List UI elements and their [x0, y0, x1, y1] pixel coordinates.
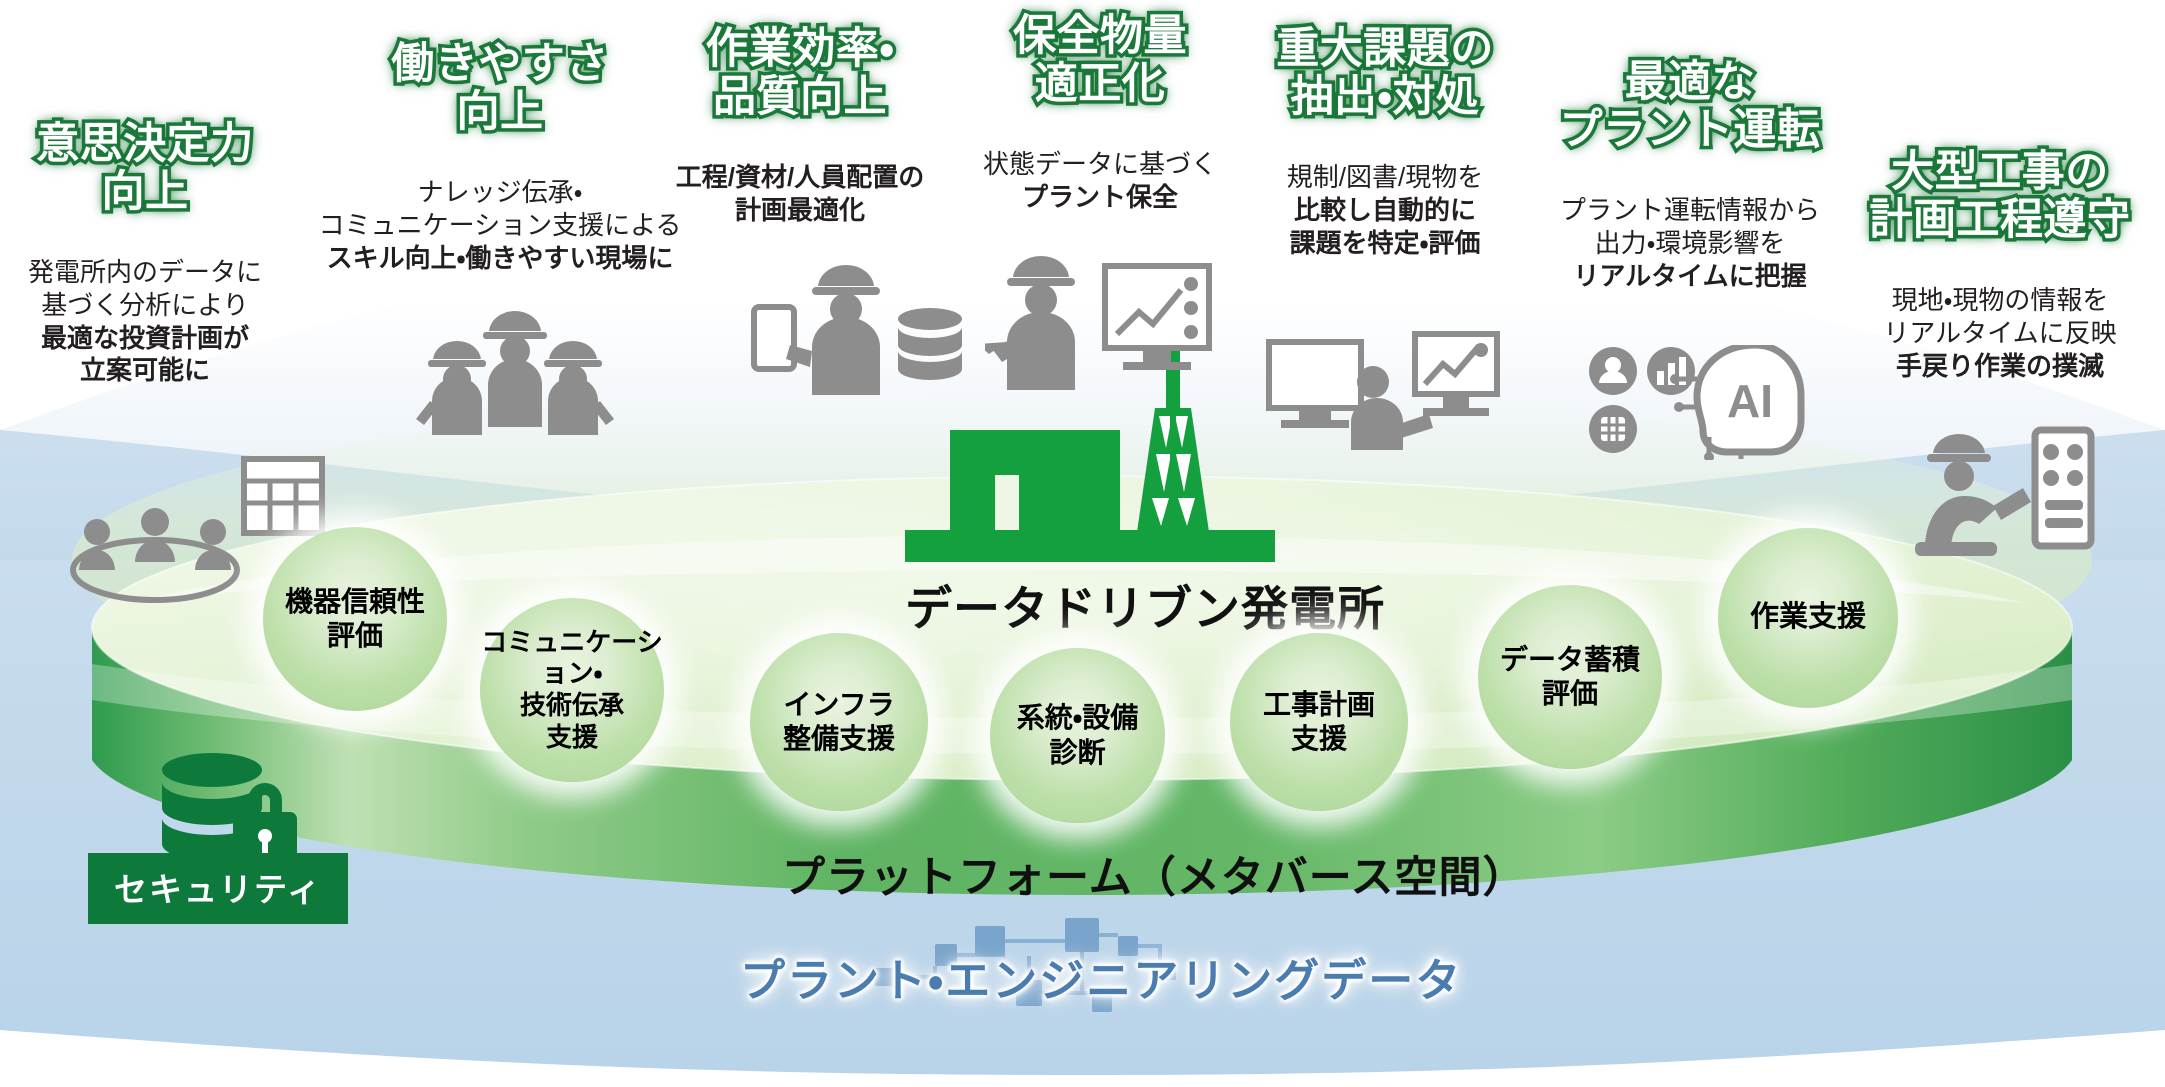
callout-body: 工程/資材/人員配置の 計画最適化 — [635, 128, 965, 226]
callout-body-bold: プラント保全 — [1022, 182, 1178, 212]
bubble-system-equipment-diagnosis[interactable]: 系統・設備 診断 — [990, 648, 1165, 823]
bubble-label: 機器信頼性 評価 — [285, 585, 425, 653]
bubble-label: データ蓄積 評価 — [1500, 643, 1640, 711]
callout-maintenance-volume: 保全物量 適正化 状態データに基づく プラント保全 — [960, 12, 1240, 214]
callout-body-bold: リアルタイムに把握 — [1573, 261, 1806, 291]
bubble-label: 工事計画 支援 — [1263, 688, 1375, 756]
callout-body: 現地・現物の情報を リアルタイムに反映 手戻り作業の撲滅 — [1850, 251, 2150, 382]
spreadsheet-icon — [240, 455, 326, 537]
workers-group-icon — [410, 305, 620, 435]
ai-analytics-icon: AI — [1585, 345, 1815, 460]
field-worker-control-panel-icon — [1905, 420, 2105, 560]
meeting-table-icon — [55, 500, 255, 610]
bubble-label: 系統・設備 診断 — [1017, 701, 1139, 769]
callout-work-efficiency-quality: 作業効率・ 品質向上 工程/資材/人員配置の 計画最適化 — [635, 25, 965, 227]
callout-body-bold: 比較し自動的に 課題を特定・評価 — [1290, 195, 1481, 258]
callout-heading: 保全物量 適正化 — [960, 12, 1240, 108]
callout-body: プラント運転情報から 出力・環境影響を リアルタイムに把握 — [1545, 161, 1835, 292]
operator-dual-monitor-icon — [1265, 330, 1500, 450]
bubble-infrastructure-support[interactable]: インフラ 整備支援 — [750, 633, 928, 811]
bubble-work-support[interactable]: 作業支援 — [1718, 528, 1898, 708]
callout-critical-issues: 重大課題の 抽出・対処 規制/図書/現物を 比較し自動的に 課題を特定・評価 — [1240, 25, 1530, 259]
engineering-data-label: プラント・エンジニアリングデータ — [740, 944, 1462, 1009]
callout-body-top: プラント運転情報から 出力・環境影響を — [1560, 195, 1820, 258]
callout-body-bold: 手戻り作業の撲滅 — [1896, 351, 2104, 381]
security-badge: セキュリティ — [88, 853, 348, 924]
callout-body: 発電所内のデータに 基づく分析により 最適な投資計画が 立案可能に — [10, 223, 280, 387]
callout-heading: 重大課題の 抽出・対処 — [1240, 25, 1530, 121]
callout-body-top: 規制/図書/現物を — [1287, 162, 1483, 192]
callout-heading: 最適な プラント運転 — [1545, 58, 1835, 154]
bubble-data-accumulation-evaluation[interactable]: データ蓄積 評価 — [1478, 585, 1662, 769]
bubble-label: コミュニケーション・ 技術伝承 支援 — [480, 627, 664, 754]
callout-body-bold: 工程/資材/人員配置の 計画最適化 — [676, 162, 924, 225]
callout-optimal-operation: 最適な プラント運転 プラント運転情報から 出力・環境影響を リアルタイムに把握 — [1545, 58, 1835, 292]
infographic-root: AI 意思決定力 向上 発電所内のデータに 基づく分析により 最適な投資計画が — [0, 0, 2165, 1087]
callout-heading: 大型工事の 計画工程遵守 — [1850, 148, 2150, 244]
callout-heading: 作業効率・ 品質向上 — [635, 25, 965, 121]
svg-text:AI: AI — [1727, 375, 1773, 427]
bubble-communication-skill-transfer[interactable]: コミュニケーション・ 技術伝承 支援 — [480, 598, 664, 782]
callout-body-top: 状態データに基づく — [983, 149, 1217, 179]
callout-heading: 意思決定力 向上 — [10, 120, 280, 216]
callout-body-top: 現地・現物の情報を リアルタイムに反映 — [1883, 285, 2116, 348]
bubble-label: 作業支援 — [1750, 600, 1866, 635]
bubble-label: インフラ 整備支援 — [783, 688, 895, 756]
callout-body-bold: 最適な投資計画が 立案可能に — [41, 323, 249, 386]
callout-large-construction: 大型工事の 計画工程遵守 現地・現物の情報を リアルタイムに反映 手戻り作業の撲… — [1850, 148, 2150, 382]
callout-body-bold: スキル向上・働きやすい現場に — [327, 243, 674, 273]
worker-monitor-chart-icon — [985, 250, 1215, 390]
platform-label: プラットフォーム（メタバース空間） — [782, 843, 1527, 905]
callout-body-top: ナレッジ伝承・ コミュニケーション支援による — [319, 177, 682, 240]
callout-body: 規制/図書/現物を 比較し自動的に 課題を特定・評価 — [1240, 128, 1530, 259]
callout-body: 状態データに基づく プラント保全 — [960, 115, 1240, 213]
callout-decision-making: 意思決定力 向上 発電所内のデータに 基づく分析により 最適な投資計画が 立案可… — [10, 120, 280, 387]
worker-tablet-database-icon — [750, 255, 970, 395]
bubble-equipment-reliability[interactable]: 機器信頼性 評価 — [263, 527, 447, 711]
bubble-construction-planning-support[interactable]: 工事計画 支援 — [1230, 633, 1408, 811]
callout-body-top: 発電所内のデータに 基づく分析により — [28, 257, 262, 320]
page-title: データドリブン発電所 — [905, 570, 1385, 639]
